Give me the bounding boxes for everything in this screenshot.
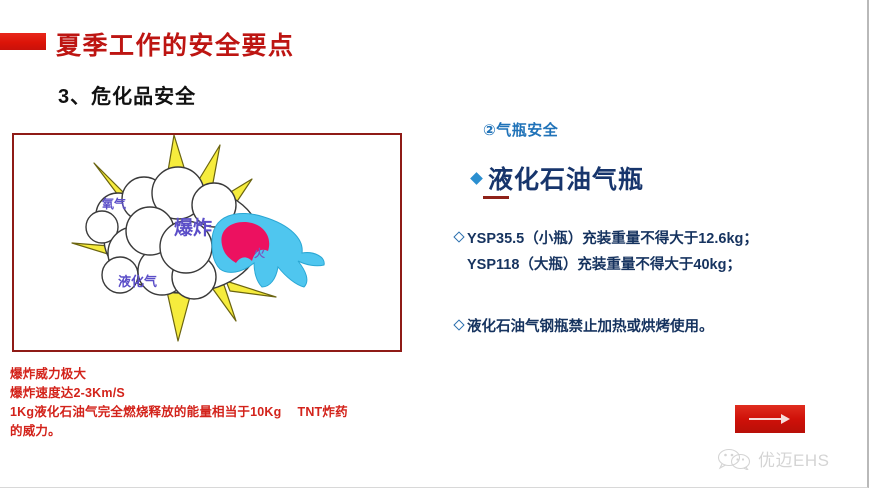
next-arrow-button[interactable] [735,405,805,433]
subsection-title-label: 液化石油气瓶 [488,160,644,196]
caption-line-4: 的威力。 [10,422,430,441]
arrow-right-head-icon [781,414,790,424]
bullet-line: YSP35.5（小瓶）充装重量不得大于12.6kg； [467,226,855,252]
wechat-icon [716,448,752,470]
arrow-right-icon [749,418,783,420]
bullet-line: YSP118（大瓶）充装重量不得大于40kg； [467,252,855,278]
caption-line-1: 爆炸威力极大 [10,365,430,384]
caption-line-2: 爆炸速度达2-3Km/S [10,384,430,403]
title-underline [483,196,509,199]
bullet-item: YSP35.5（小瓶）充装重量不得大于12.6kg； YSP118（大瓶）充装重… [455,226,855,278]
watermark-label: 优迈EHS [758,446,829,471]
diamond-bullet-icon [470,172,483,185]
bullet-item: 液化石油气钢瓶禁止加热或烘烤使用。 [455,314,855,340]
explosion-power-caption: 爆炸威力极大 爆炸速度达2-3Km/S 1Kg液化石油气完全燃烧释放的能量相当于… [10,365,430,441]
caption-line-3: 1Kg液化石油气完全燃烧释放的能量相当于10KgTNT炸药 [10,403,430,422]
section-heading: 3、危化品安全 [58,80,196,109]
subsection-title: 液化石油气瓶 [472,160,644,196]
page-title: 夏季工作的安全要点 [56,26,295,62]
bullet-line: 液化石油气钢瓶禁止加热或烘烤使用。 [467,314,855,340]
subsection-eyebrow: ②气瓶安全 [483,119,558,140]
bullet-text: YSP35.5（小瓶）充装重量不得大于12.6kg； YSP118（大瓶）充装重… [455,226,855,278]
explosion-illustration-svg [14,135,400,350]
bullet-text: 液化石油气钢瓶禁止加热或烘烤使用。 [455,314,855,340]
slide-canvas: 夏季工作的安全要点 3、危化品安全 [0,0,869,488]
header-accent-bar [0,33,46,50]
caption-line-3b: TNT炸药 [297,405,347,419]
explosion-illustration-frame: 爆炸 氧气 液化气 火 [12,133,402,352]
bullet-list: YSP35.5（小瓶）充装重量不得大于12.6kg； YSP118（大瓶）充装重… [455,226,855,340]
watermark: 优迈EHS [716,446,829,471]
caption-line-3a: 1Kg液化石油气完全燃烧释放的能量相当于10Kg [10,405,281,419]
